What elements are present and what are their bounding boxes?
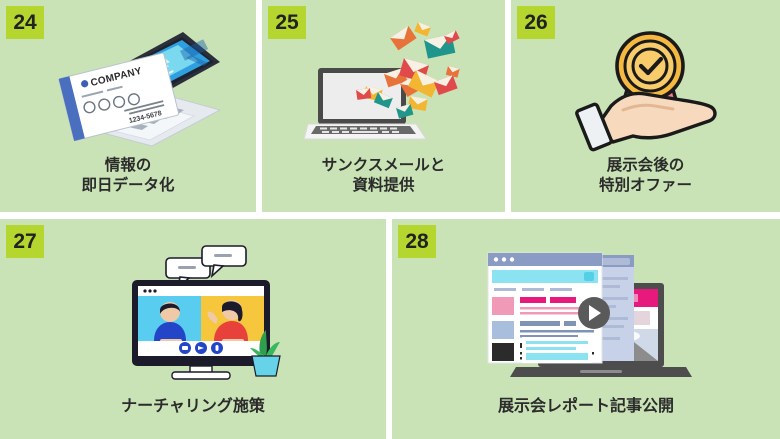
panel-24-caption: 情報の 即日データ化 <box>0 156 256 196</box>
video-call-monitor-illustration <box>118 244 284 378</box>
laptop-browser-article-illustration <box>480 241 690 381</box>
panel-28[interactable]: 28 <box>392 219 780 439</box>
panel-24-number-badge: 24 <box>6 6 44 39</box>
slide-board: 24 <box>0 0 780 439</box>
laptop-with-business-card-illustration: COMPANY 1234-5678 <box>52 18 222 148</box>
panel-28-number-badge: 28 <box>398 225 436 258</box>
panel-25-caption: サンクスメールと 資料提供 <box>262 156 505 196</box>
panel-25-number-badge: 25 <box>268 6 306 39</box>
panel-27[interactable]: 27 <box>0 219 386 439</box>
panel-25[interactable]: 25 <box>262 0 505 212</box>
laptop-with-flying-envelopes-illustration <box>304 22 476 147</box>
panel-27-number-badge: 27 <box>6 225 44 258</box>
panel-26-number-badge: 26 <box>517 6 555 39</box>
panel-26-caption: 展示会後の 特別オファー <box>511 156 780 196</box>
panel-27-caption: ナーチャリング施策 <box>0 397 386 417</box>
panel-28-caption: 展示会レポート記事公開 <box>392 397 780 417</box>
hand-holding-award-medal-illustration <box>575 22 725 148</box>
panel-24[interactable]: 24 <box>0 0 256 212</box>
panel-26[interactable]: 26 展示会後の 特別オファー <box>511 0 780 212</box>
